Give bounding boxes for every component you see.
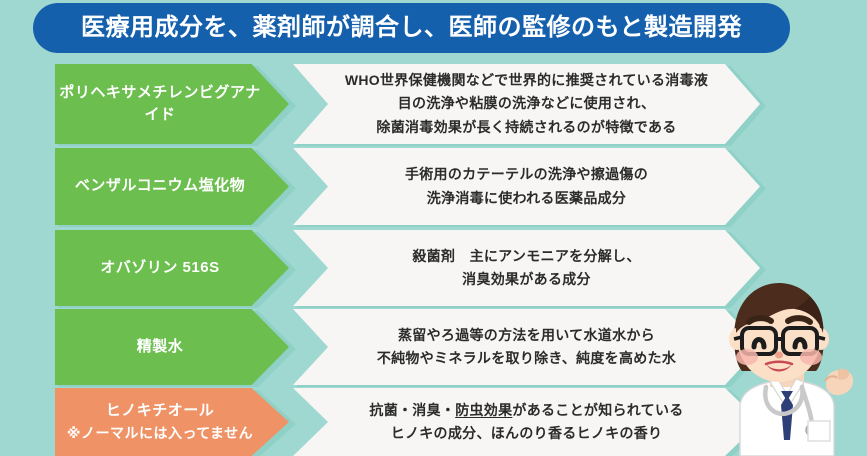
- ingredient-row: ベンザルコニウム塩化物 手術用のカテーテルの洗浄や擦過傷の 洗浄消毒に使われる医…: [0, 148, 867, 225]
- ingredient-name: オバゾリン 516S: [100, 257, 219, 280]
- description-line: 除菌消毒効果が長く持続されるのが特徴である: [345, 116, 708, 139]
- ingredient-description: 殺菌剤 主にアンモニアを分解し、 消臭効果がある成分: [412, 245, 640, 291]
- ingredient-label-chevron: ヒノキチオール ※ノーマルには入ってません: [55, 388, 289, 456]
- ingredient-label-chevron: ポリヘキサメチレンビグアナイド: [55, 64, 289, 144]
- description-line: 消臭効果がある成分: [412, 268, 640, 291]
- description-line: 目の洗浄や粘膜の洗浄などに使用され、: [345, 92, 708, 115]
- ingredient-description-chevron: 殺菌剤 主にアンモニアを分解し、 消臭効果がある成分: [293, 230, 760, 306]
- description-line: 洗浄消毒に使われる医薬品成分: [405, 187, 648, 210]
- description-line: 手術用のカテーテルの洗浄や擦過傷の: [405, 163, 648, 186]
- page-title: 医療用成分を、薬剤師が調合し、医師の監修のもと製造開発: [81, 16, 742, 40]
- description-line: WHO世界保健機関などで世界的に推奨されている消毒液: [345, 69, 708, 92]
- ingredient-description: 手術用のカテーテルの洗浄や擦過傷の 洗浄消毒に使われる医薬品成分: [405, 163, 648, 209]
- ingredient-name: 精製水: [137, 336, 184, 359]
- ingredient-name: ヒノキチオール ※ノーマルには入ってません: [67, 400, 253, 444]
- ingredient-description-chevron: 手術用のカテーテルの洗浄や擦過傷の 洗浄消毒に使われる医薬品成分: [293, 148, 760, 225]
- ingredient-name-note: ※ノーマルには入ってません: [67, 423, 253, 444]
- description-line-underlined: 抗菌・消臭・防虫効果があることが知られている: [369, 399, 683, 422]
- ingredient-name-main: ヒノキチオール: [106, 402, 215, 419]
- doctor-illustration: [692, 275, 867, 456]
- header-banner: 医療用成分を、薬剤師が調合し、医師の監修のもと製造開発: [33, 3, 790, 53]
- ingredient-description: WHO世界保健機関などで世界的に推奨されている消毒液 目の洗浄や粘膜の洗浄などに…: [345, 69, 708, 138]
- ingredient-description-chevron: 抗菌・消臭・防虫効果があることが知られている ヒノキの成分、ほんのり香るヒノキの…: [293, 388, 760, 456]
- infographic-page: 医療用成分を、薬剤師が調合し、医師の監修のもと製造開発 ポリヘキサメチレンビグア…: [0, 0, 867, 456]
- ingredient-name: ポリヘキサメチレンビグアナイド: [55, 82, 265, 127]
- ingredient-label-chevron: オバゾリン 516S: [55, 230, 289, 306]
- ingredient-description: 抗菌・消臭・防虫効果があることが知られている ヒノキの成分、ほんのり香るヒノキの…: [369, 399, 683, 445]
- ingredient-label-chevron: ベンザルコニウム塩化物: [55, 148, 289, 225]
- description-line: 殺菌剤 主にアンモニアを分解し、: [412, 245, 640, 268]
- ingredient-description-chevron: WHO世界保健機関などで世界的に推奨されている消毒液 目の洗浄や粘膜の洗浄などに…: [293, 64, 760, 144]
- description-line: 蒸留やろ過等の方法を用いて水道水から: [377, 324, 676, 347]
- description-line: ヒノキの成分、ほんのり香るヒノキの香り: [369, 422, 683, 445]
- ingredient-row: ポリヘキサメチレンビグアナイド WHO世界保健機関などで世界的に推奨されている消…: [0, 64, 867, 144]
- description-line: 不純物やミネラルを取り除き、純度を高めた水: [377, 347, 676, 370]
- ingredient-label-chevron: 精製水: [55, 309, 289, 385]
- ingredient-name: ベンザルコニウム塩化物: [75, 175, 245, 198]
- ingredient-description-chevron: 蒸留やろ過等の方法を用いて水道水から 不純物やミネラルを取り除き、純度を高めた水: [293, 309, 760, 385]
- ingredient-description: 蒸留やろ過等の方法を用いて水道水から 不純物やミネラルを取り除き、純度を高めた水: [377, 324, 676, 370]
